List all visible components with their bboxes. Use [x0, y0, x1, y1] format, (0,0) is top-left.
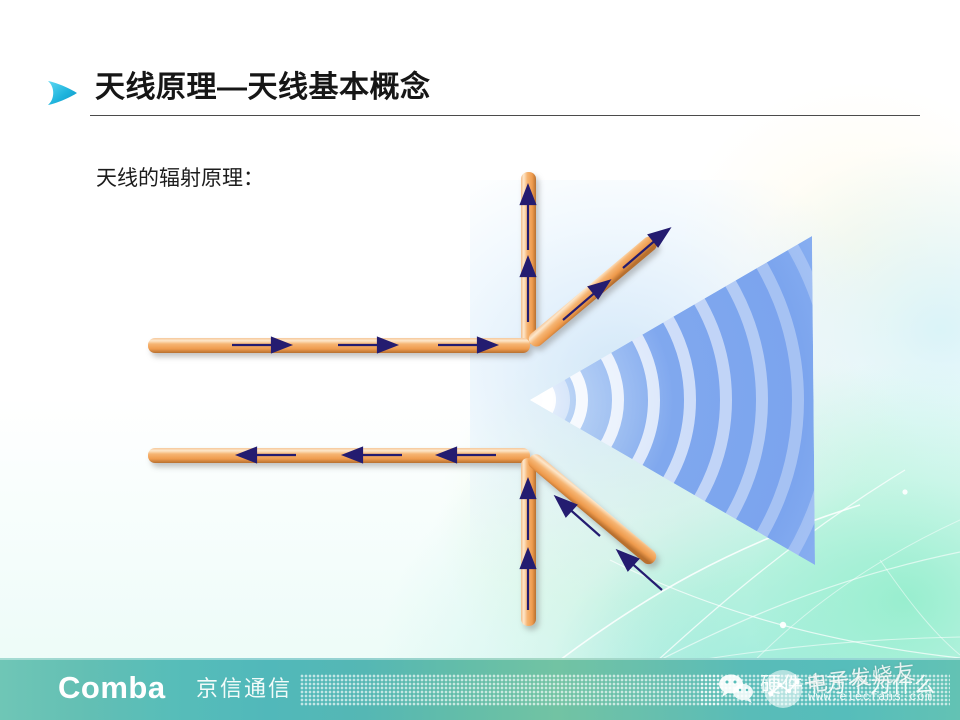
comba-logo-cn: 京信通信: [196, 678, 292, 700]
antenna-radiation-principle-diagram: [0, 140, 960, 650]
presentation-slide: 天线原理—天线基本概念 天线的辐射原理：: [0, 0, 960, 720]
triangle-right-icon: [45, 79, 79, 107]
rod-bottom-diagonal: [525, 451, 659, 567]
footer-dot-pattern-left: [300, 674, 720, 706]
footer-highlight-line: [0, 658, 960, 660]
wechat-icon: [716, 672, 756, 704]
wechat-account-name: 硬件十万个为什么: [760, 675, 936, 696]
arrow-upright-td-1: [563, 281, 609, 320]
page-title: 天线原理—天线基本概念: [95, 70, 431, 106]
arrow-upright-td-2: [623, 229, 669, 268]
comba-logo-text: Comba: [58, 672, 166, 703]
footer-band: Comba 京信通信 硬件十万个为什么: [0, 658, 960, 720]
title-underline: [90, 115, 920, 116]
